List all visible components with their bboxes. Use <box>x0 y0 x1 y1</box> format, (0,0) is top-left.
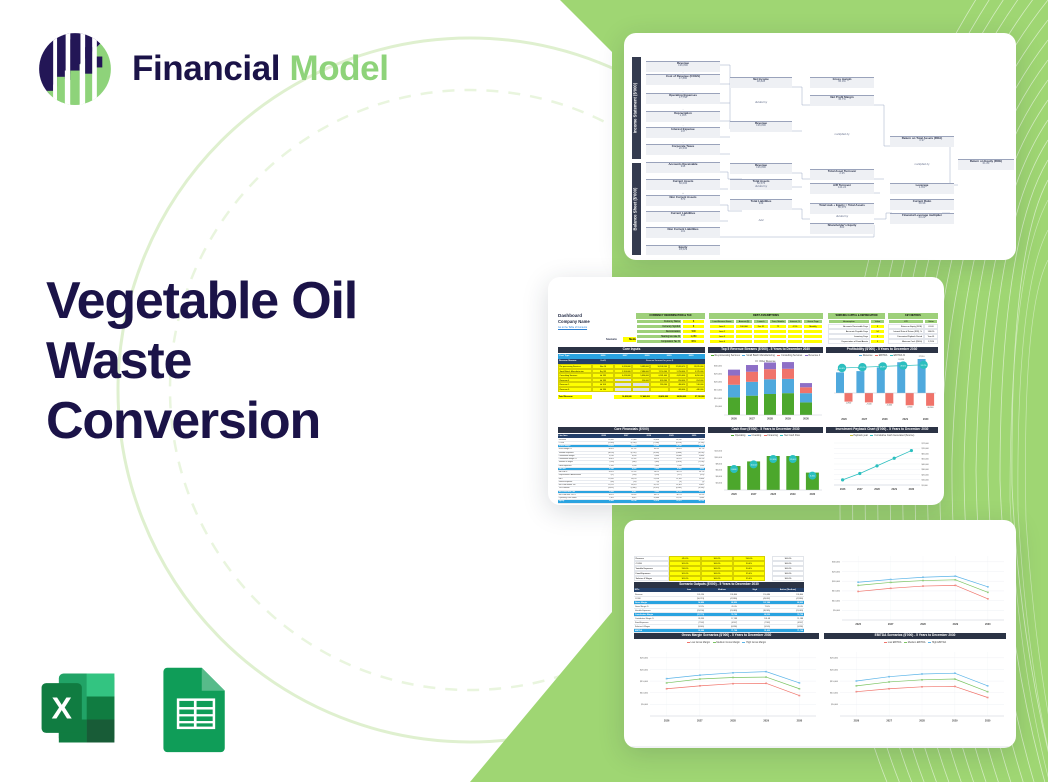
brand-lockup: Financial Model <box>36 30 389 108</box>
dupont-node-value: 948 <box>646 166 720 169</box>
ebitda-line-chart: $5,000$10,000$15,000$20,000$25,000202620… <box>624 520 1016 747</box>
dupont-operator: Add <box>730 219 792 222</box>
dupont-node: Total Liab + Equity = Total Assets50,576 <box>810 203 874 214</box>
dupont-node: Equity49,629 <box>646 245 720 255</box>
page-title: Vegetable Oil Waste Conversion <box>46 272 466 451</box>
dupont-node-value: 50,006 <box>646 183 720 186</box>
dupont-node: Gross margin65.0% <box>810 77 874 88</box>
dupont-node-value: 101 <box>646 231 720 234</box>
excel-icon: X <box>32 662 124 754</box>
dupont-operator: divided by <box>730 101 792 104</box>
dupont-node-value: 35.7% <box>810 99 874 102</box>
dupont-node: Leverage1.9% <box>890 183 954 194</box>
svg-text:2030: 2030 <box>909 488 915 491</box>
google-sheets-icon <box>156 662 236 754</box>
svg-text:$20,000: $20,000 <box>830 669 839 671</box>
svg-text:X: X <box>51 692 72 726</box>
scenario-outputs-screenshot[interactable]: Revenue-85.0%100.0%110.0%100.0%COGS105.0… <box>624 520 1016 748</box>
dupont-node: Return on Total Assets (ROA)0.97 <box>890 136 954 147</box>
dupont-node: A/R Turnover144.24 <box>810 183 874 194</box>
dupont-node-value: 47,880 <box>646 78 720 81</box>
dupont-node-value: 65.0% <box>810 81 874 84</box>
dupont-node: Net Income48,828 <box>730 77 792 88</box>
dupont-node-value: 949 <box>730 203 792 206</box>
dupont-node-value: 17,758 <box>646 97 720 100</box>
dupont-node-value: 137 <box>646 131 720 134</box>
dupont-node: Financial Leverage multiplier63.22 <box>890 213 954 224</box>
dupont-node-value: 1,365 <box>646 115 720 118</box>
file-format-icons: X <box>32 662 236 754</box>
dupont-node-value: 49,629 <box>646 249 720 252</box>
dupont-node: Revenue136,800 <box>730 163 792 174</box>
dupont-node-value: 50,576 <box>810 207 874 210</box>
svg-text:$25,000: $25,000 <box>830 658 839 660</box>
dupont-node-value: 136,800 <box>730 125 792 128</box>
dupont-node: Cost of Revenue (COGS)47,880 <box>646 74 720 85</box>
svg-text:2027: 2027 <box>886 720 892 723</box>
dupont-operator: multiplied by <box>810 133 874 136</box>
dupont-operator: multiplied by <box>890 163 954 166</box>
dupont-node-value: 144.24 <box>810 187 874 190</box>
brand-word-model: Model <box>289 49 388 88</box>
dupont-node: Net Profit Margin35.7% <box>810 95 874 106</box>
svg-text:$30,000: $30,000 <box>922 469 930 471</box>
payback-line-chart: $1,000$10,000$20,000$30,000$40,000$50,00… <box>548 277 940 504</box>
dupont-node: Shareholder's Equity800 <box>810 223 874 234</box>
dupont-operator: divided by <box>810 215 874 218</box>
dupont-node: Total Asset Turnover2.35 <box>810 169 874 180</box>
svg-text:2029: 2029 <box>952 720 958 723</box>
dupont-node-value: 570 <box>646 199 720 202</box>
operator-minus: - <box>646 108 720 111</box>
brand-wordmark: Financial Model <box>132 49 389 89</box>
dashboard-screenshot[interactable]: DashboardCompany NameGo to the Table of … <box>548 277 944 505</box>
dupont-node: Accounts Receivable948 <box>646 162 720 173</box>
svg-text:$40,000: $40,000 <box>922 464 930 466</box>
svg-text:$10,000: $10,000 <box>922 480 930 482</box>
svg-text:2027: 2027 <box>857 488 863 491</box>
brand-word-financial: Financial <box>132 49 280 88</box>
svg-text:2028: 2028 <box>919 720 925 723</box>
svg-text:$10,000: $10,000 <box>830 693 839 695</box>
operator-minus: - <box>646 141 720 144</box>
dupont-node-value: 1.9% <box>890 187 954 190</box>
dupont-node-value: 20,636 <box>646 148 720 151</box>
dupont-node-value: 800 <box>810 227 874 230</box>
operator-minus: - <box>646 90 720 93</box>
svg-text:$50,000: $50,000 <box>922 459 930 461</box>
operator-minus: - <box>646 124 720 127</box>
dupont-node-value: 136,800 <box>646 65 720 68</box>
svg-text:$70,000: $70,000 <box>922 448 930 450</box>
dupont-node: Interest Expense137 <box>646 127 720 138</box>
dupont-node: Return on Equity (ROE)61.03 <box>958 159 1014 170</box>
dupont-node: Total Liabilities949 <box>730 199 792 210</box>
dupont-node-value: 648 <box>646 215 720 218</box>
svg-text:$1,000: $1,000 <box>922 485 929 487</box>
dupont-node-value: 61.03 <box>958 163 1014 166</box>
svg-text:2026: 2026 <box>854 720 860 723</box>
dupont-node: Current Assets50,006 <box>646 179 720 190</box>
dupont-node-value: 136,800 <box>730 167 792 170</box>
dupont-operator: divided by <box>730 185 792 188</box>
operator-plus: + <box>646 192 720 195</box>
svg-text:$20,000: $20,000 <box>922 474 930 476</box>
svg-text:$72,000: $72,000 <box>922 443 930 445</box>
svg-text:2030: 2030 <box>985 720 991 723</box>
svg-text:2026: 2026 <box>840 488 846 491</box>
dupont-node-value: 2.35 <box>810 173 874 176</box>
svg-text:$60,000: $60,000 <box>922 453 930 455</box>
dupont-node: Current Ratio58.98 <box>890 199 954 210</box>
dupont-node-value: 58.98 <box>890 203 954 206</box>
svg-text:$5,000: $5,000 <box>831 704 838 706</box>
dupont-node-value: 63.22 <box>890 217 954 220</box>
circle-bars-logo <box>36 30 114 108</box>
dupont-node: Non Current Liabilities101 <box>646 227 720 238</box>
dupont-node-value: 48,828 <box>730 81 792 84</box>
dupont-node: Non Current Assets570 <box>646 195 720 206</box>
dupont-node: Depreciation1,365 <box>646 111 720 122</box>
dupont-analysis-screenshot[interactable]: Income Statement ($'000) Balance Sheet (… <box>624 33 1016 260</box>
dupont-node: Corporate Taxes20,636 <box>646 144 720 155</box>
left-content-column: Financial Model Vegetable Oil Waste Conv… <box>0 0 470 782</box>
dupont-node: Revenue136,800 <box>730 121 792 132</box>
operator-minus: - <box>646 71 720 74</box>
svg-text:2028: 2028 <box>874 488 880 491</box>
dupont-node: Current Liabilities648 <box>646 211 720 222</box>
svg-text:$15,000: $15,000 <box>830 681 839 683</box>
dupont-node-value: 0.97 <box>890 140 954 143</box>
dupont-node: Operating Expenses17,758 <box>646 93 720 104</box>
svg-text:2029: 2029 <box>891 488 897 491</box>
